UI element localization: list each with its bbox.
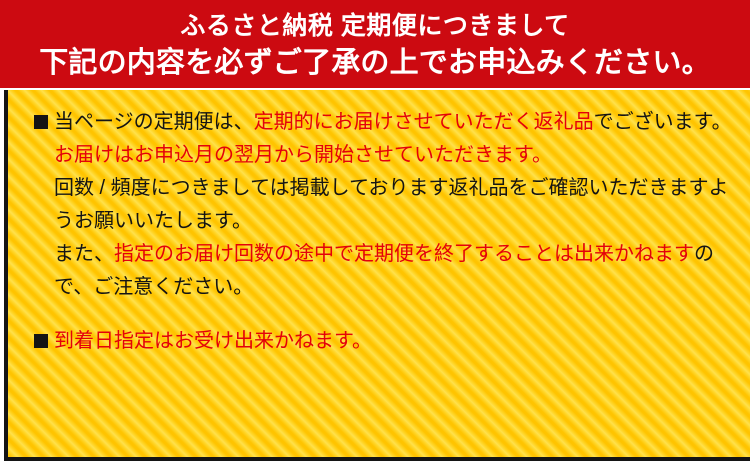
square-bullet-icon [34, 115, 48, 129]
notice-text-segment-3: でございます。 [594, 111, 732, 133]
notice-text-arrival-date: 到着日指定はお受け出来かねます。 [54, 330, 372, 352]
notice-text-segment-1: 当ページの定期便は、 [54, 111, 254, 133]
notice-item-delivery-terms: 当ページの定期便は、定期的にお届けさせていただく返礼品でございます。お届けはお申… [34, 106, 736, 304]
notice-text-segment-4: お届けはお申込月の翌月から開始させていただきます。 [54, 144, 552, 166]
header-title-line-1: ふるさと納税 定期便につきまして [180, 8, 569, 44]
notice-text-segment-6: また、 [54, 243, 114, 265]
notice-list: 当ページの定期便は、定期的にお届けさせていただく返礼品でございます。お届けはお申… [34, 106, 736, 358]
notice-text-segment-7: 指定のお届け回数の途中で定期便を終了することは出来かねます [114, 243, 694, 265]
banner-header: ふるさと納税 定期便につきまして 下記の内容を必ずご了承の上でお申込みください。 [0, 0, 750, 88]
header-title-line-2: 下記の内容を必ずご了承の上でお申込みください。 [39, 44, 711, 82]
furusato-teikibin-notice-banner: ふるさと納税 定期便につきまして 下記の内容を必ずご了承の上でお申込みください。… [0, 0, 750, 465]
square-bullet-icon [34, 334, 48, 348]
notice-text-segment-2: 定期的にお届けさせていただく返礼品 [254, 111, 594, 133]
notice-item-arrival-date: 到着日指定はお受け出来かねます。 [34, 325, 736, 358]
notice-panel: 当ページの定期便は、定期的にお届けさせていただく返礼品でございます。お届けはお申… [4, 90, 750, 461]
notice-text-segment-5: 回数 / 頻度につきましては掲載しております返礼品をご確認いただきますようお願い… [54, 177, 728, 232]
